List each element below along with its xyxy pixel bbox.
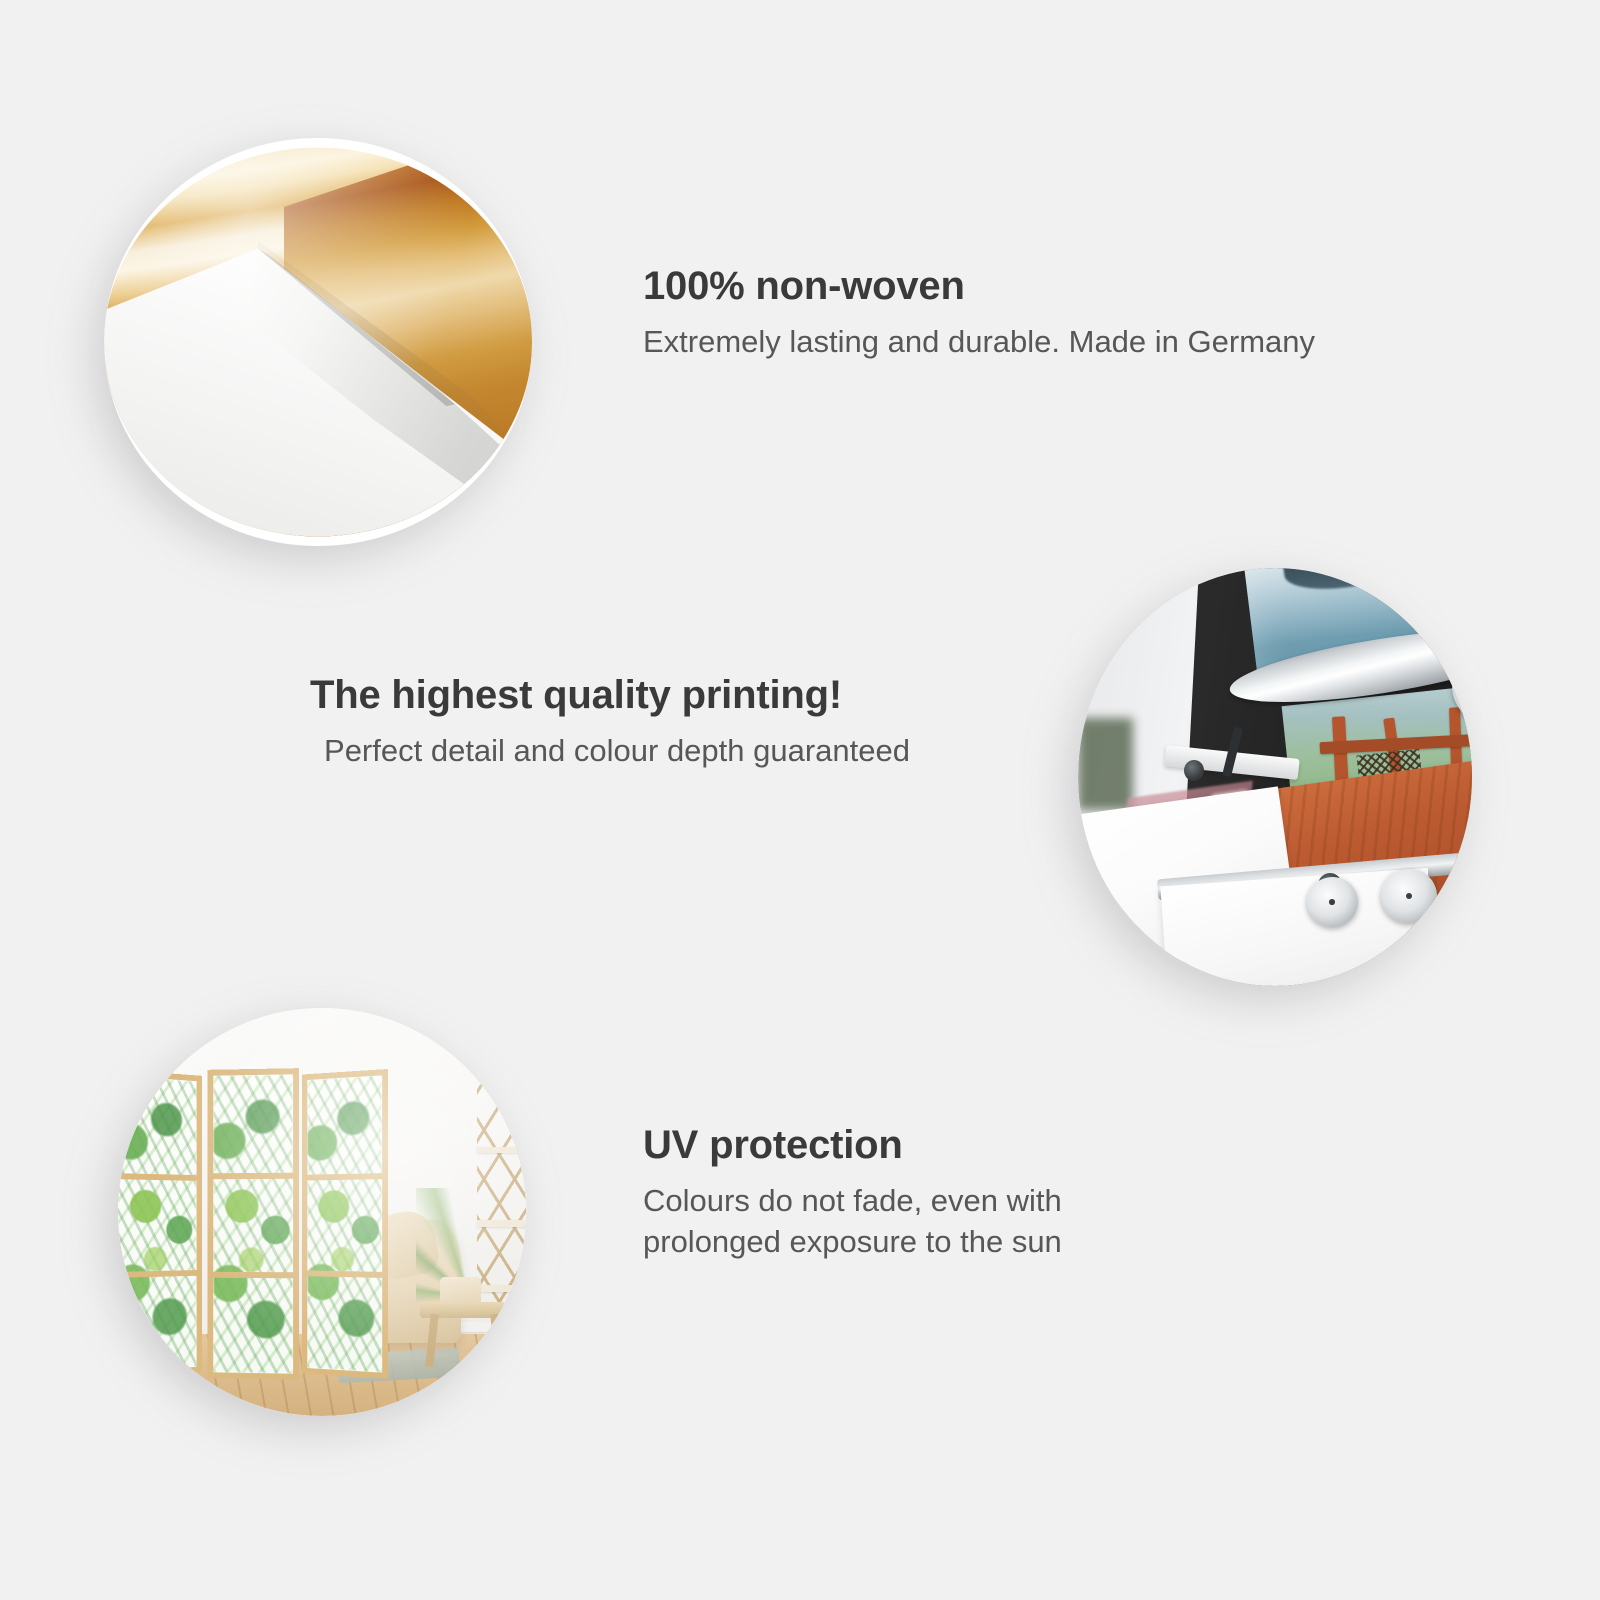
- feature-text-non-woven: 100% non-woven Extremely lasting and dur…: [643, 264, 1323, 362]
- room-light-glow: [118, 1008, 526, 1416]
- roller-wheel-right: [1381, 869, 1436, 923]
- tropical-room-divider-photo: [118, 1008, 526, 1416]
- feature-heading-uv-protection: UV protection: [643, 1123, 1203, 1168]
- feature-infographic: 100% non-woven Extremely lasting and dur…: [0, 0, 1600, 1600]
- wallpaper-roll-peel-photo: [104, 138, 532, 546]
- printing-machine-photo: [1078, 568, 1472, 986]
- feature-heading-quality-printing: The highest quality printing!: [310, 673, 910, 718]
- feature-heading-non-woven: 100% non-woven: [643, 264, 1323, 309]
- machine-green-accent: [1078, 718, 1133, 810]
- feature-body-non-woven: Extremely lasting and durable. Made in G…: [643, 321, 1323, 362]
- feature-text-quality-printing: The highest quality printing! Perfect de…: [310, 673, 910, 771]
- feature-body-quality-printing: Perfect detail and colour depth guarante…: [310, 730, 910, 771]
- feature-body-uv-protection: Colours do not fade, even with prolonged…: [643, 1180, 1203, 1262]
- feature-text-uv-protection: UV protection Colours do not fade, even …: [643, 1123, 1203, 1262]
- roller-wheel-left: [1307, 877, 1358, 927]
